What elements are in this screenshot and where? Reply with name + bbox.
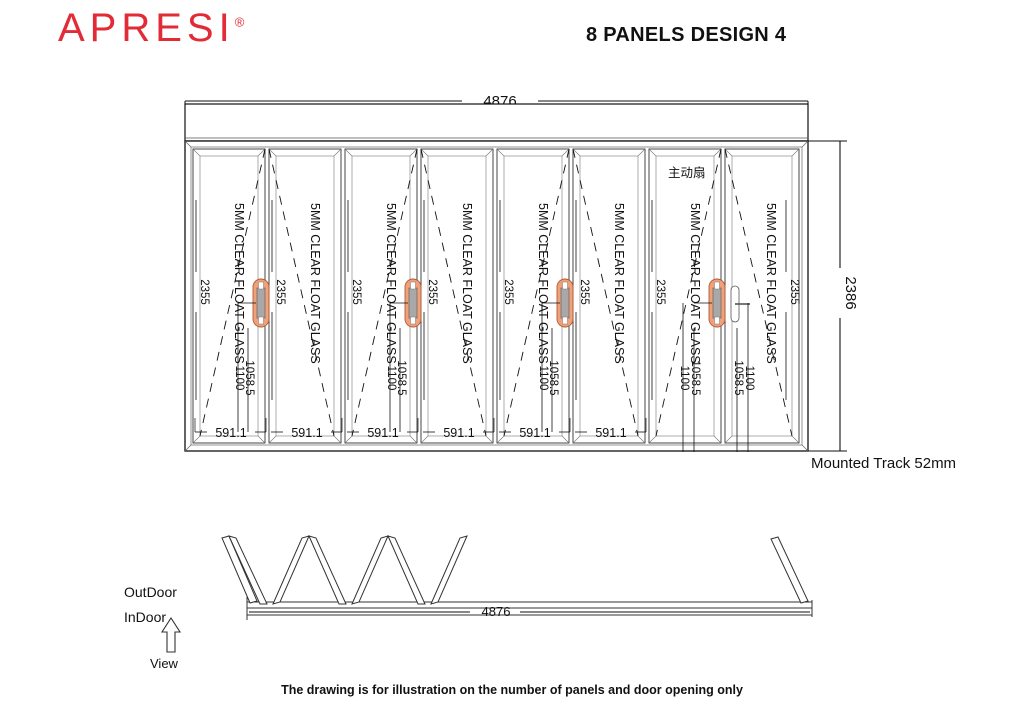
mounted-track-label: Mounted Track 52mm bbox=[811, 455, 956, 472]
outdoor-label: OutDoor bbox=[124, 584, 177, 600]
glass-label-7: 5MM CLEAR FLOAT GLASS bbox=[688, 203, 702, 364]
dim-panel-width-1: 591.1 bbox=[215, 426, 246, 440]
dim-panel-height-7: 2355 bbox=[654, 279, 666, 305]
plan-view: 4876 bbox=[162, 536, 812, 652]
plan-width-dimension: 4876 bbox=[249, 604, 810, 619]
dim-handle-height-5: 1100 bbox=[743, 366, 755, 391]
glass-label-6: 5MM CLEAR FLOAT GLASS bbox=[612, 203, 626, 364]
dim-panel-height-1: 2355 bbox=[198, 279, 210, 305]
overall-height-dimension: 2386 bbox=[808, 141, 859, 451]
head-track bbox=[185, 104, 808, 141]
dim-panel-width-6: 591.1 bbox=[595, 426, 626, 440]
active-panel-label: 主动扇 bbox=[668, 162, 706, 181]
dim-lock-height-3: 1058.5 bbox=[547, 360, 559, 395]
dim-panel-height-6: 2355 bbox=[578, 279, 590, 305]
dim-panel-height-8: 2355 bbox=[788, 279, 800, 305]
dim-lock-height-1: 1058.5 bbox=[243, 360, 255, 395]
indoor-label: InDoor bbox=[124, 609, 166, 625]
dim-lock-height-4: 1058.5 bbox=[689, 360, 701, 395]
dim-panel-height-2: 2355 bbox=[274, 279, 286, 305]
dim-panel-width-4: 591.1 bbox=[443, 426, 474, 440]
glass-label-3: 5MM CLEAR FLOAT GLASS bbox=[384, 203, 398, 364]
dim-panel-width-3: 591.1 bbox=[367, 426, 398, 440]
dim-panel-width-2: 591.1 bbox=[291, 426, 322, 440]
glass-label-4: 5MM CLEAR FLOAT GLASS bbox=[460, 203, 474, 364]
dim-plan-width: 4876 bbox=[482, 604, 511, 619]
dim-handle-height-4: 1100 bbox=[678, 366, 690, 391]
glass-label-1: 5MM CLEAR FLOAT GLASS bbox=[232, 203, 246, 364]
dim-overall-height: 2386 bbox=[842, 276, 859, 309]
dim-lock-height-2: 1058.5 bbox=[395, 360, 407, 395]
footer-note: The drawing is for illustration on the n… bbox=[0, 683, 1024, 697]
dim-lock-height-5: 1058.5 bbox=[732, 360, 744, 395]
glass-label-2: 5MM CLEAR FLOAT GLASS bbox=[308, 203, 322, 364]
glass-label-5: 5MM CLEAR FLOAT GLASS bbox=[536, 203, 550, 364]
folded-leaves bbox=[222, 536, 808, 604]
dim-panel-height-5: 2355 bbox=[502, 279, 514, 305]
dim-panel-height-4: 2355 bbox=[426, 279, 438, 305]
drawing-canvas: APRESI® 8 PANELS DESIGN 4 4876 bbox=[0, 0, 1024, 724]
view-label: View bbox=[150, 656, 178, 671]
glass-label-8: 5MM CLEAR FLOAT GLASS bbox=[764, 203, 778, 364]
dim-panel-height-3: 2355 bbox=[350, 279, 362, 305]
dim-panel-width-5: 591.1 bbox=[519, 426, 550, 440]
